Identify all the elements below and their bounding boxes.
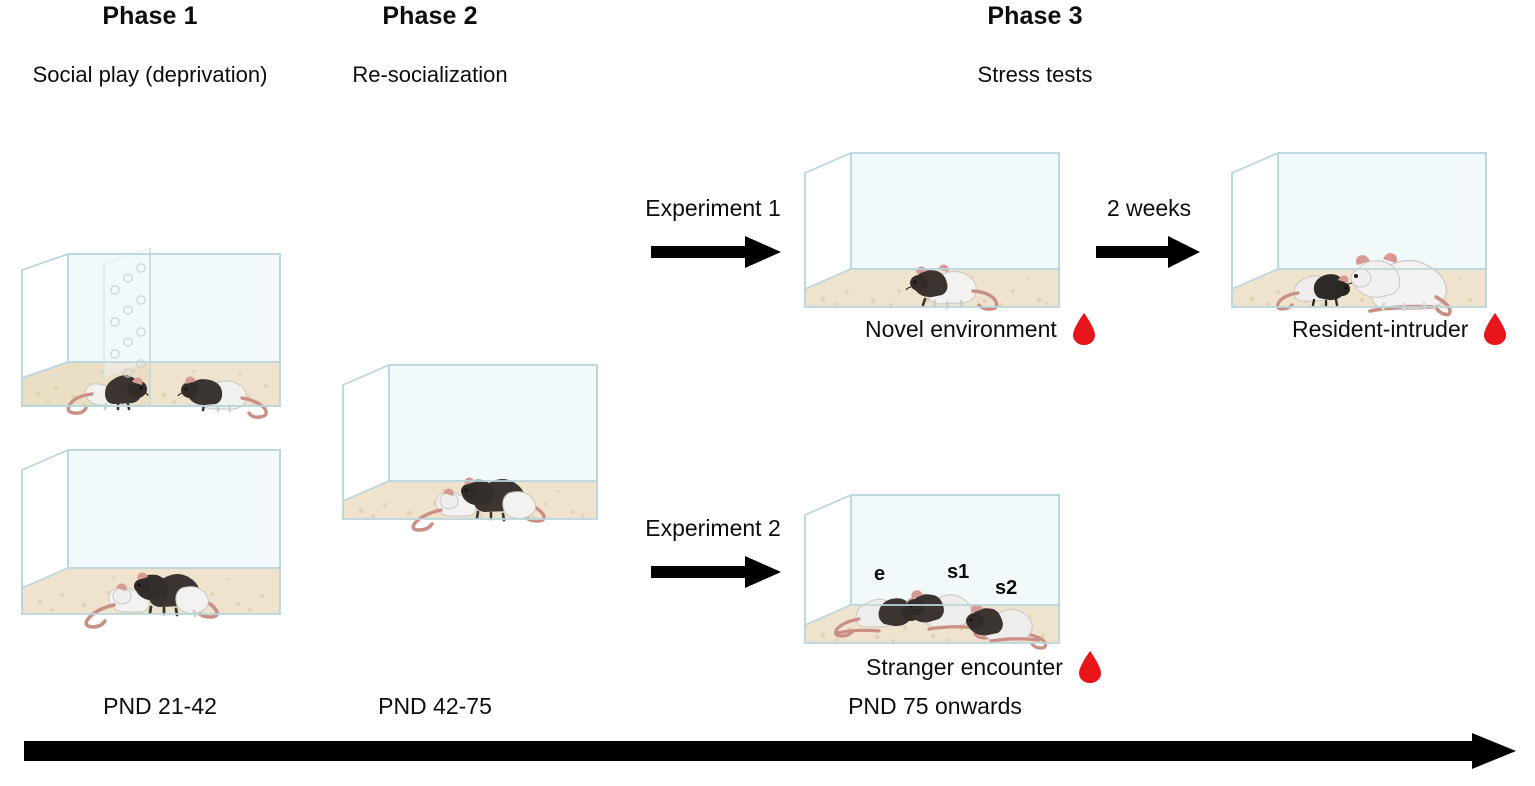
experiment-1-label: Experiment 1 [633,195,793,222]
timeline-arrow [24,733,1520,777]
arrow-right-icon [633,548,793,594]
cage-stranger-encounter [795,485,1067,650]
rat-tag-s1: s1 [947,561,969,584]
phase-3-title: Phase 3 [910,2,1160,31]
arrow-right-icon [1090,228,1208,274]
blood-drop-icon [1482,312,1508,346]
cage-social-play [14,438,286,623]
blood-drop-icon [1077,650,1103,684]
phase-2-title: Phase 2 [320,2,540,31]
cage-divided-deprivation [14,246,286,421]
phase-1-subtitle: Social play (deprivation) [0,62,300,88]
pnd-label-phase-2: PND 42-75 [320,693,550,720]
cage-novel-environment [795,143,1067,315]
two-weeks-label: 2 weeks [1090,195,1208,222]
phase-2-subtitle: Re-socialization [320,62,540,88]
cage-resident-intruder [1222,143,1494,315]
blood-drop-icon [1071,312,1097,346]
phase-1-title: Phase 1 [20,2,280,31]
arrow-two-weeks: 2 weeks [1090,195,1208,274]
resident-intruder-label: Resident-intruder [1292,316,1468,343]
caption-resident-intruder: Resident-intruder [1292,312,1508,346]
cage-resocialization [333,355,605,527]
arrow-right-icon [633,228,793,274]
timeline-arrow-icon [24,733,1520,777]
novel-environment-label: Novel environment [865,316,1057,343]
pnd-label-phase-3: PND 75 onwards [790,693,1080,720]
caption-stranger-encounter: Stranger encounter [866,650,1103,684]
caption-novel-environment: Novel environment [865,312,1097,346]
rat-tag-s2: s2 [995,577,1017,600]
pnd-label-phase-1: PND 21-42 [30,693,290,720]
arrow-experiment-1: Experiment 1 [633,195,793,274]
experiment-2-label: Experiment 2 [633,515,793,542]
arrow-experiment-2: Experiment 2 [633,515,793,594]
phase-3-subtitle: Stress tests [910,62,1160,88]
rat-tag-e: e [874,563,885,586]
stranger-encounter-label: Stranger encounter [866,654,1063,681]
